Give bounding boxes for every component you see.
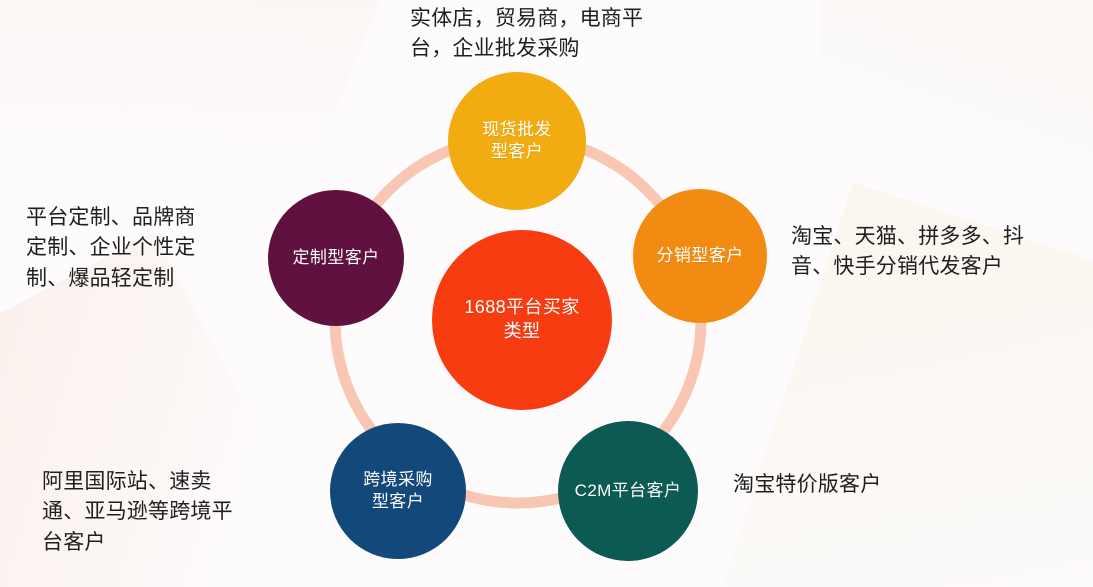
node-custom-label: 定制型客户 <box>293 247 380 269</box>
node-wholesale-label: 现货批发 型客户 <box>482 119 552 164</box>
node-wholesale[interactable]: 现货批发 型客户 <box>448 72 586 210</box>
callout-custom: 平台定制、品牌商 定制、企业个性定 制、爆品轻定制 <box>26 203 271 294</box>
diagram-canvas: 1688平台买家 类型 现货批发 型客户 分销型客户 C2M平台客户 跨境采购 … <box>0 0 1093 587</box>
callout-wholesale: 实体店，贸易商，电商平 台，企业批发采购 <box>410 4 700 65</box>
node-c2m-label: C2M平台客户 <box>575 480 682 502</box>
center-node[interactable]: 1688平台买家 类型 <box>432 230 612 410</box>
node-c2m[interactable]: C2M平台客户 <box>558 421 698 561</box>
center-node-label: 1688平台买家 类型 <box>464 296 579 344</box>
node-custom[interactable]: 定制型客户 <box>268 190 404 326</box>
callout-c2m: 淘宝特价版客户 <box>733 470 1013 500</box>
background-wash-top-right <box>820 0 1093 230</box>
node-distribution-label: 分销型客户 <box>657 245 744 267</box>
node-distribution[interactable]: 分销型客户 <box>633 189 767 323</box>
node-crossborder-label: 跨境采购 型客户 <box>363 469 433 514</box>
callout-crossborder: 阿里国际站、速卖 通、亚马逊等跨境平 台客户 <box>42 467 310 558</box>
node-crossborder[interactable]: 跨境采购 型客户 <box>330 423 466 559</box>
callout-distribution: 淘宝、天猫、拼多多、抖 音、快手分销代发客户 <box>791 222 1091 283</box>
